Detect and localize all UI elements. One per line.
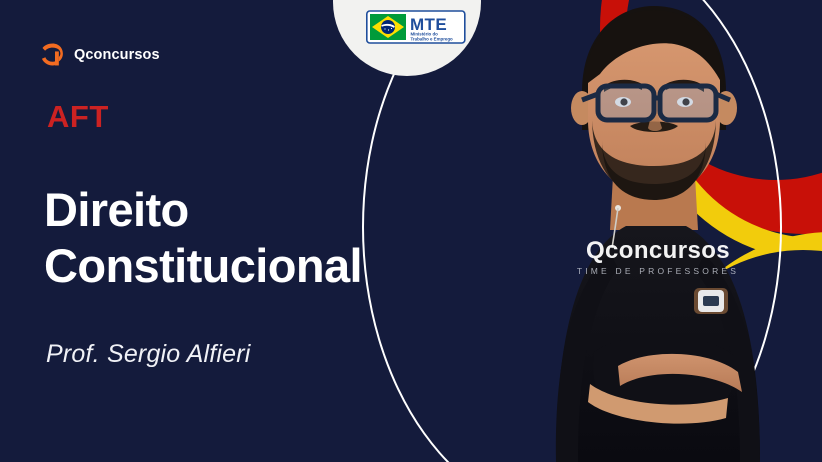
course-title-line-2: Constitucional [44,238,484,294]
presenter-portrait: Qconcursos TIME DE PROFESSORES [498,0,822,462]
brand-name: Qconcursos [74,47,160,63]
brand-lockup: Qconcursos [40,42,160,67]
title-column: Qconcursos AFT Direito Constitucional Pr… [0,0,500,462]
qconcursos-q-mark-icon [40,42,65,67]
svg-text:Qconcursos: Qconcursos [586,237,730,264]
course-thumbnail: Qconcursos TIME DE PROFESSORES [0,0,822,462]
page-title: Direito Constitucional [44,182,484,295]
teacher-name: Prof. Sergio Alfieri [46,340,251,369]
svg-text:TIME DE PROFESSORES: TIME DE PROFESSORES [577,266,739,276]
course-title-line-1: Direito [44,182,484,238]
exam-tag: AFT [47,101,109,132]
